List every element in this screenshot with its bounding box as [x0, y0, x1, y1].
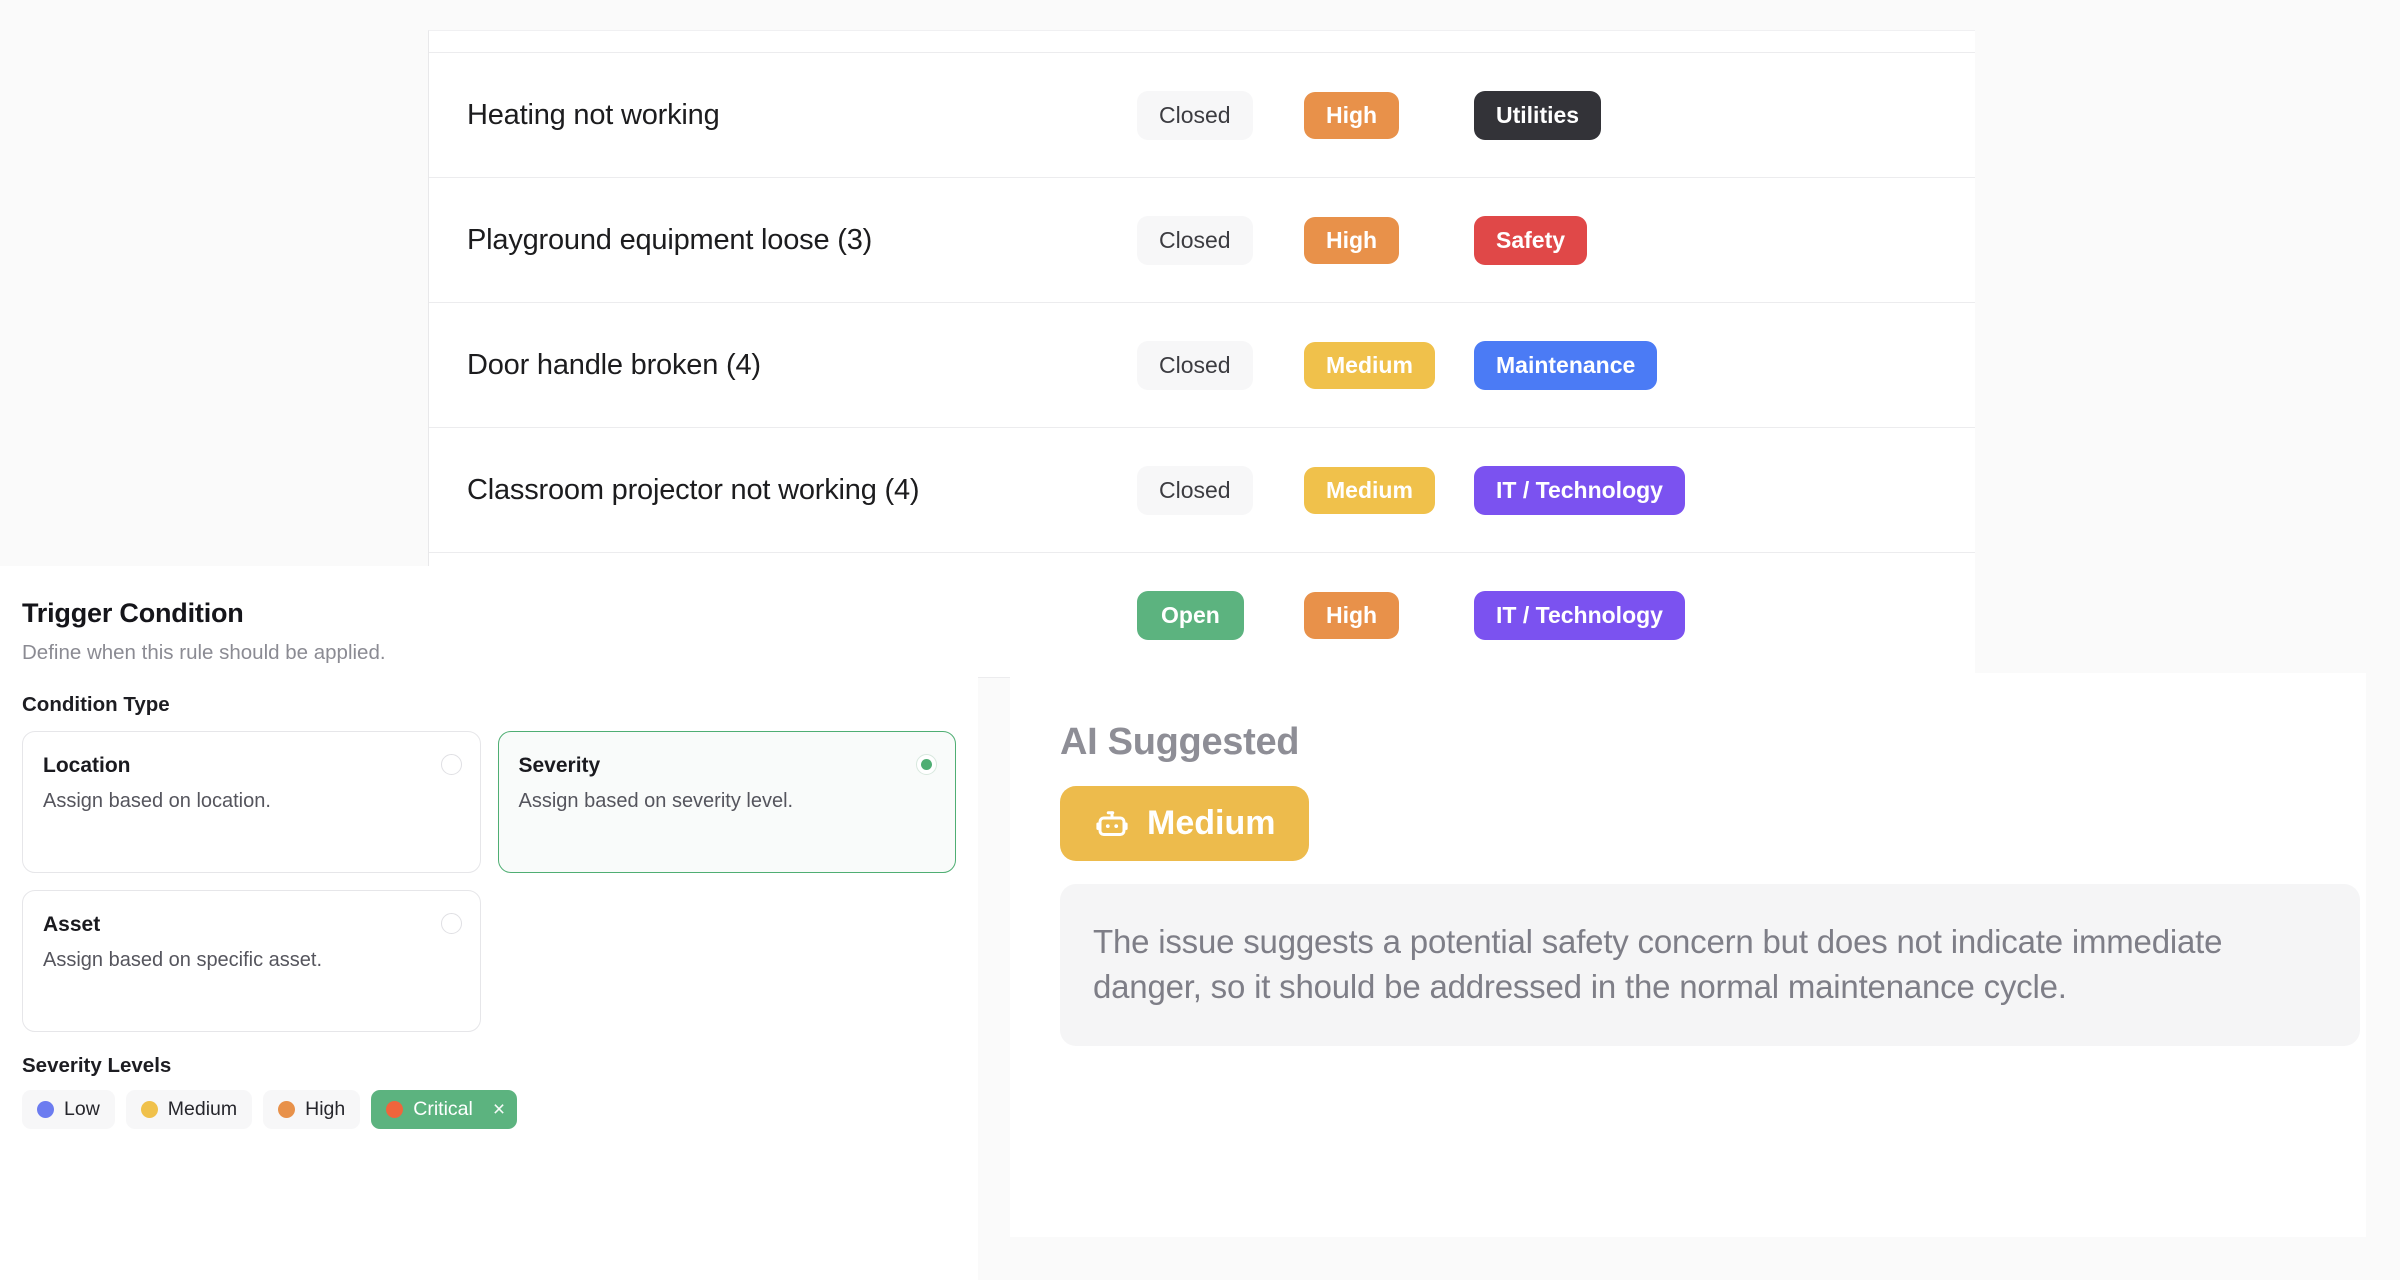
radio-unchecked-icon[interactable] — [441, 913, 462, 934]
ticket-category-cell: IT / Technology — [1474, 466, 1794, 515]
condition-type-label: Condition Type — [22, 693, 956, 717]
severity-chip-low[interactable]: Low — [22, 1090, 115, 1129]
ticket-status-cell: Open — [1137, 591, 1304, 640]
severity-chip-label: High — [305, 1098, 345, 1121]
ticket-title: Classroom projector not working (4) — [467, 474, 1137, 507]
status-badge: Closed — [1137, 216, 1253, 265]
ticket-category-cell: Safety — [1474, 216, 1794, 265]
status-badge: Closed — [1137, 91, 1253, 140]
status-badge: Closed — [1137, 341, 1253, 390]
condition-option-location[interactable]: Location Assign based on location. — [22, 731, 481, 873]
severity-chip-critical[interactable]: Critical × — [371, 1090, 517, 1129]
radio-unchecked-icon[interactable] — [441, 754, 462, 775]
ticket-severity-cell: Medium — [1304, 342, 1474, 389]
robot-icon — [1094, 806, 1130, 842]
screen-root: Heating not working Closed High Utilitie… — [0, 0, 2400, 1280]
trigger-condition-panel: Trigger Condition Define when this rule … — [0, 566, 978, 1280]
ticket-status-cell: Closed — [1137, 91, 1304, 140]
color-dot-icon — [37, 1101, 54, 1118]
severity-badge: Medium — [1304, 467, 1435, 514]
ai-reasoning-text: The issue suggests a potential safety co… — [1060, 884, 2360, 1046]
ticket-status-cell: Closed — [1137, 216, 1304, 265]
ai-suggested-panel: AI Suggested Medium The issue suggests a… — [1010, 673, 2366, 1237]
ticket-title: Playground equipment loose (3) — [467, 224, 1137, 257]
severity-levels-chips: Low Medium High Critical × — [22, 1090, 956, 1129]
ai-suggested-heading: AI Suggested — [1060, 721, 2316, 764]
category-badge: Safety — [1474, 216, 1587, 265]
panel-title: Trigger Condition — [22, 598, 956, 629]
status-badge: Open — [1137, 591, 1244, 640]
severity-badge: High — [1304, 592, 1399, 639]
table-row[interactable]: Heating not working Closed High Utilitie… — [429, 53, 1975, 178]
remove-icon[interactable]: × — [493, 1099, 505, 1120]
status-badge: Closed — [1137, 466, 1253, 515]
option-title: Location — [43, 754, 460, 778]
ticket-status-cell: Closed — [1137, 466, 1304, 515]
ticket-severity-cell: Medium — [1304, 467, 1474, 514]
severity-chip-medium[interactable]: Medium — [126, 1090, 252, 1129]
ticket-category-cell: IT / Technology — [1474, 591, 1794, 640]
ticket-title: Door handle broken (4) — [467, 349, 1137, 382]
category-badge: IT / Technology — [1474, 466, 1685, 515]
category-badge: IT / Technology — [1474, 591, 1685, 640]
option-description: Assign based on location. — [43, 790, 460, 813]
option-title: Asset — [43, 913, 460, 937]
ai-badge-label: Medium — [1147, 804, 1275, 843]
option-description: Assign based on severity level. — [519, 790, 936, 813]
ticket-category-cell: Maintenance — [1474, 341, 1794, 390]
category-badge: Maintenance — [1474, 341, 1657, 390]
category-badge: Utilities — [1474, 91, 1601, 140]
severity-chip-label: Critical — [413, 1098, 473, 1121]
severity-chip-label: Low — [64, 1098, 100, 1121]
color-dot-icon — [386, 1101, 403, 1118]
color-dot-icon — [278, 1101, 295, 1118]
severity-badge: High — [1304, 217, 1399, 264]
ticket-status-cell: Closed — [1137, 341, 1304, 390]
table-row[interactable]: Playground equipment loose (3) Closed Hi… — [429, 178, 1975, 303]
table-row-partial-top — [429, 31, 1975, 53]
severity-chip-label: Medium — [168, 1098, 237, 1121]
condition-option-asset[interactable]: Asset Assign based on specific asset. — [22, 890, 481, 1032]
ticket-category-cell: Utilities — [1474, 91, 1794, 140]
ticket-severity-cell: High — [1304, 592, 1474, 639]
color-dot-icon — [141, 1101, 158, 1118]
severity-badge: High — [1304, 92, 1399, 139]
condition-option-severity[interactable]: Severity Assign based on severity level. — [498, 731, 957, 873]
ticket-severity-cell: High — [1304, 92, 1474, 139]
severity-chip-high[interactable]: High — [263, 1090, 360, 1129]
condition-type-options: Location Assign based on location. Sever… — [22, 731, 956, 1032]
table-row[interactable]: Door handle broken (4) Closed Medium Mai… — [429, 303, 1975, 428]
option-description: Assign based on specific asset. — [43, 949, 460, 972]
severity-badge: Medium — [1304, 342, 1435, 389]
severity-levels-label: Severity Levels — [22, 1054, 956, 1078]
radio-checked-icon[interactable] — [916, 754, 937, 775]
panel-subtitle: Define when this rule should be applied. — [22, 641, 956, 665]
ai-suggested-severity-badge[interactable]: Medium — [1060, 786, 1309, 861]
ticket-severity-cell: High — [1304, 217, 1474, 264]
option-title: Severity — [519, 754, 936, 778]
ticket-title: Heating not working — [467, 99, 1137, 132]
table-row[interactable]: Classroom projector not working (4) Clos… — [429, 428, 1975, 553]
